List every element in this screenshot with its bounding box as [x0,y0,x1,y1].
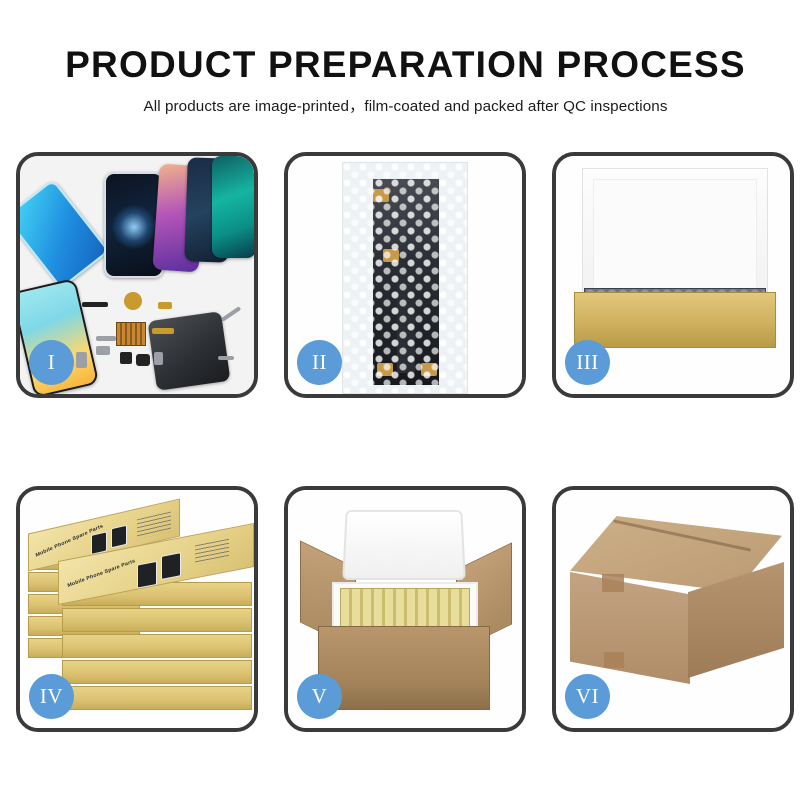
gold-box-front-2 [62,608,252,632]
step-1-image: I [20,156,254,394]
sealed-carton-front-icon [570,572,690,684]
step-4-image: Mobile Phone Spare Parts Mobile Phone Sp… [20,490,254,728]
step-panel-3[interactable]: III [552,152,794,398]
phone-back-housing-icon [147,311,230,391]
vibrator-motor-icon [158,302,172,309]
carton-tape-lower-icon [604,652,624,668]
teal-gradient-phone-icon [212,156,256,258]
lid-spec-lines-back [137,512,171,540]
step-badge-4: IV [29,674,74,719]
open-carton-body-icon [318,626,490,710]
lid-screen-image-b [111,525,127,549]
step-6-image: VI [556,490,790,728]
white-box-lid-icon [582,168,768,296]
connector-mid-icon [383,249,399,262]
bubble-wrap-bag-icon [342,162,468,394]
connector-bottom-right-icon [421,363,437,376]
page-subtitle: All products are image-printed，film-coat… [0,94,811,116]
foam-lid-icon [342,510,466,580]
step-panel-4[interactable]: Mobile Phone Spare Parts Mobile Phone Sp… [16,486,258,732]
gold-box-front-3 [62,634,252,658]
sim-tray-icon [154,352,163,365]
page-title: PRODUCT PREPARATION PROCESS [0,44,811,85]
step-badge-2: II [297,340,342,385]
step-2-image: II [288,156,522,394]
infographic-page: PRODUCT PREPARATION PROCESS All products… [0,0,811,811]
tweezers-icon [221,306,241,322]
gold-box-front-5 [62,686,252,710]
step-badge-6: VI [565,674,610,719]
gold-inner-box-icon [574,292,776,348]
step-badge-1: I [29,340,74,385]
step-panel-5[interactable]: V [284,486,526,732]
home-button-flex-icon [152,328,174,334]
wrapped-lcd-screen-icon [373,179,439,385]
blue-adhesive-film-icon [16,179,110,290]
lid-spec-lines-front [195,539,229,566]
ic-chip-icon [120,352,132,364]
carton-tape-upper-icon [602,574,624,592]
button-cap-icon [136,354,150,366]
connector-top-icon [373,189,389,202]
speaker-module-icon [124,292,142,310]
step-3-image: III [556,156,790,394]
step-panel-1[interactable]: I [16,152,258,398]
connector-bottom-left-icon [377,363,393,376]
step-panel-2[interactable]: II [284,152,526,398]
step-badge-5: V [297,674,342,719]
screwdriver-icon [218,356,234,360]
process-step-grid: I II III [16,152,795,732]
header: PRODUCT PREPARATION PROCESS All products… [0,0,811,116]
lid-screen-image-c [137,561,157,589]
step-5-image: V [288,490,522,728]
bga-chip-icon [116,322,146,346]
camera-module-icon [96,346,110,355]
lid-screen-image-d [161,552,181,580]
earpiece-mesh-icon [82,302,108,307]
flex-cable-icon [96,336,116,341]
wrapped-flex-cable-icon [397,255,415,373]
box-brand-text-front: Mobile Phone Spare Parts [67,558,136,589]
gold-box-front-4 [62,660,252,684]
step-panel-6[interactable]: VI [552,486,794,732]
small-screen-part-icon [76,352,87,368]
step-badge-3: III [565,340,610,385]
